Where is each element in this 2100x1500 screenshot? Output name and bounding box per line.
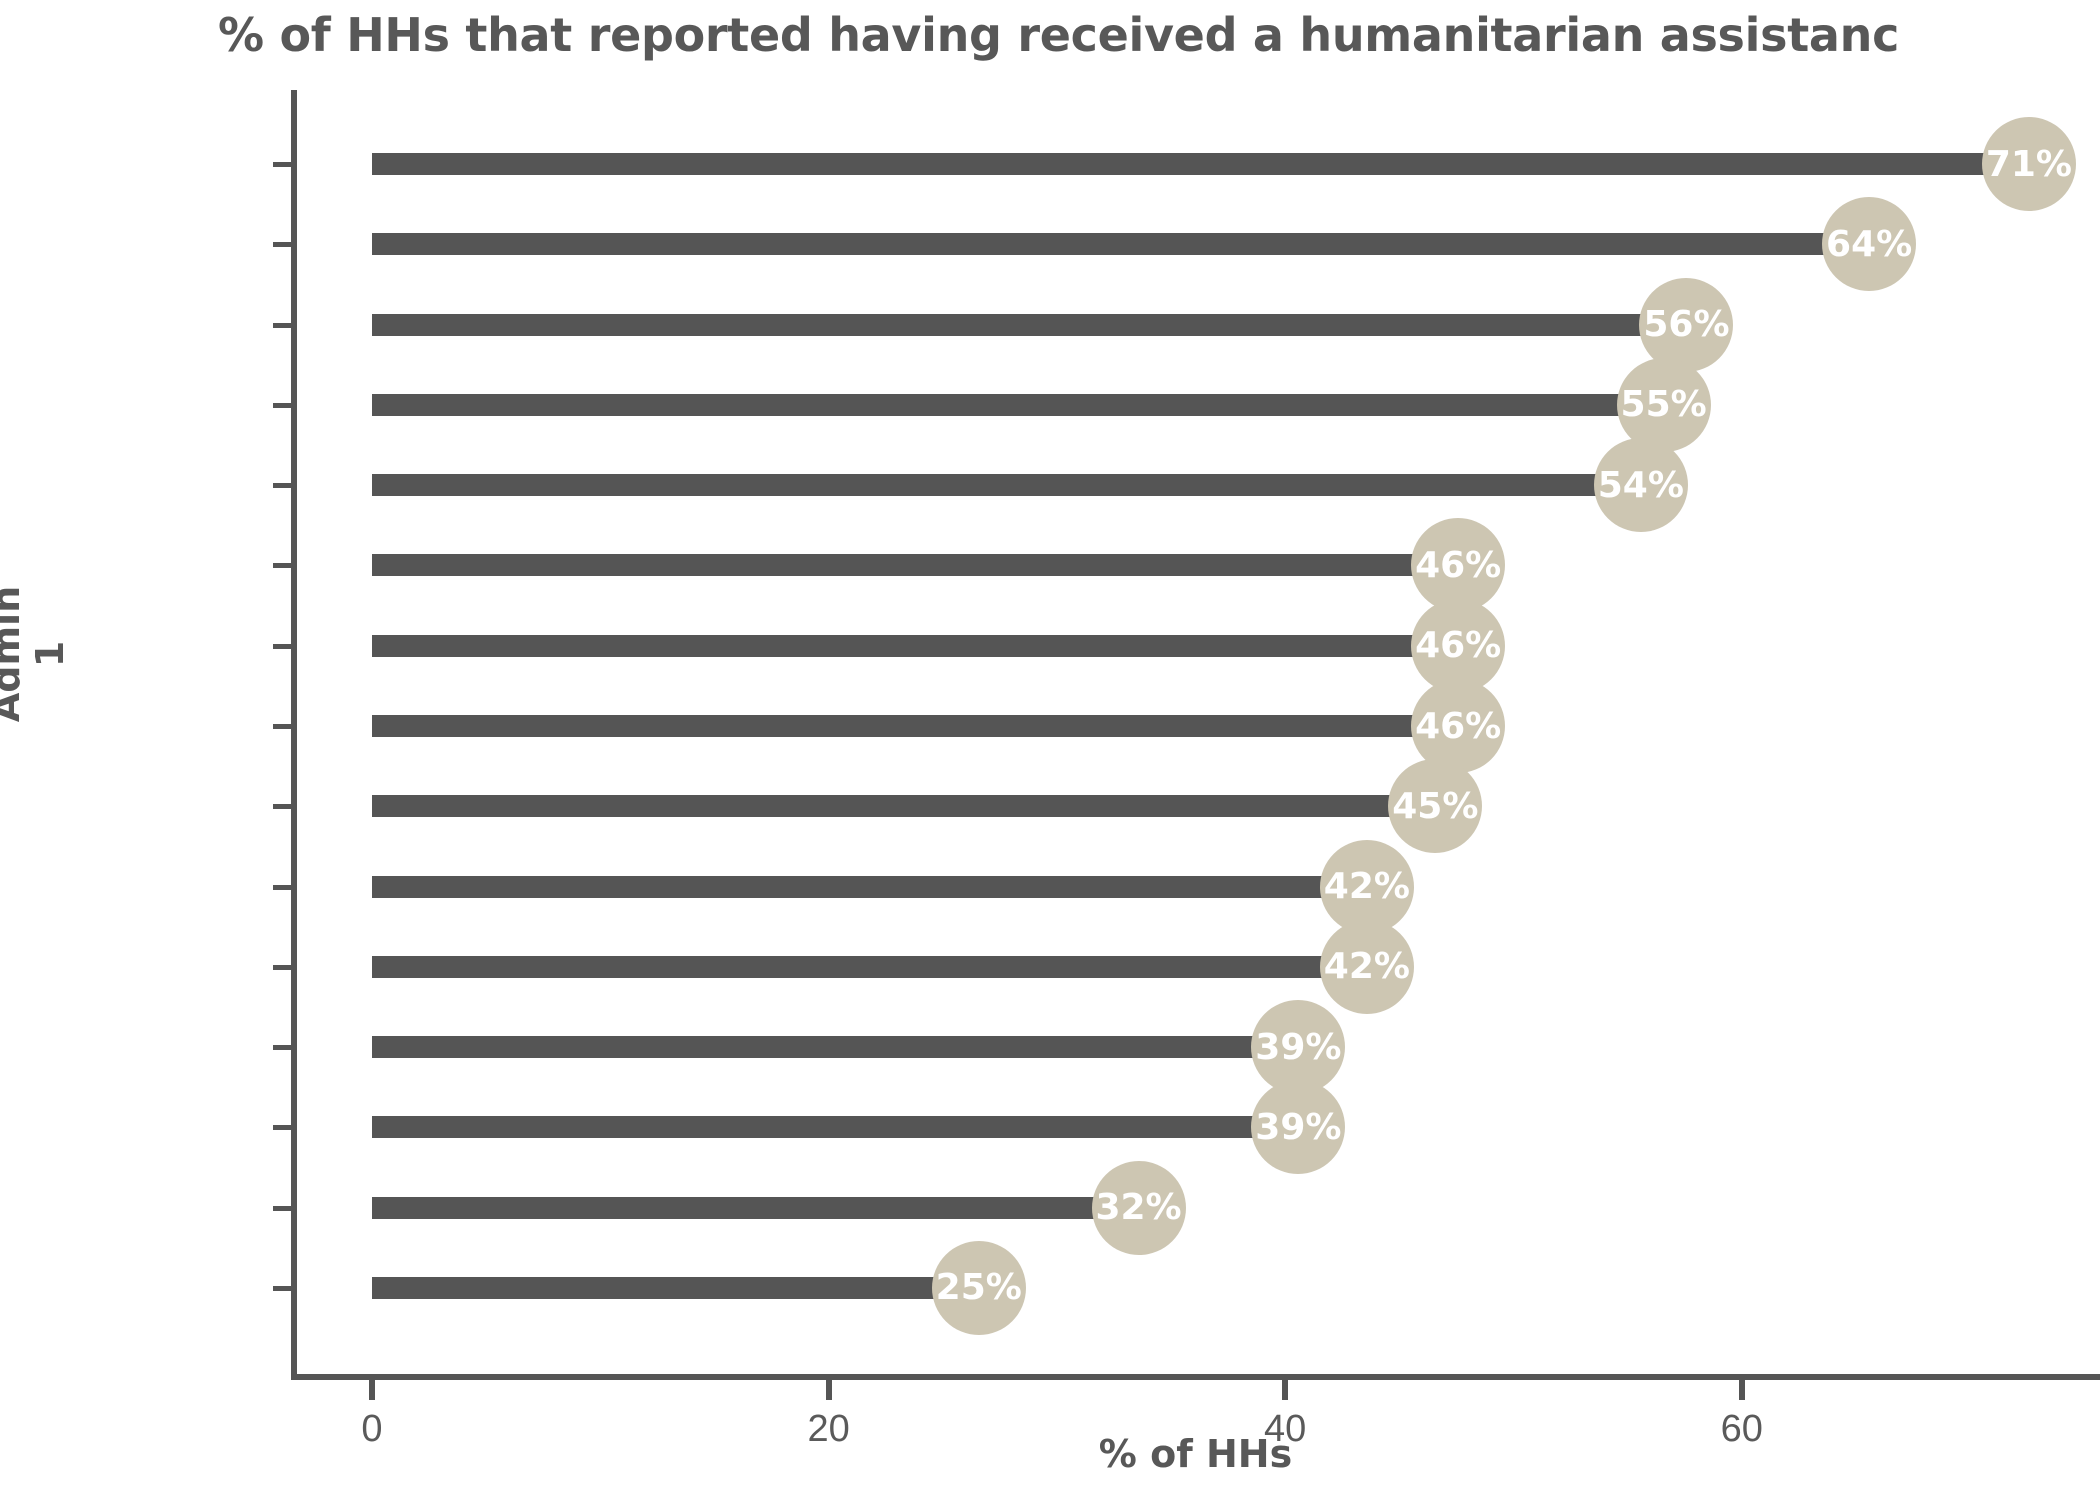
value-bubble: 54%	[1594, 438, 1688, 532]
value-bubble-label: 64%	[1826, 224, 1912, 265]
lollipop-bar	[372, 635, 1422, 657]
y-axis-title: Admin 1	[0, 574, 72, 734]
value-bubble-label: 55%	[1621, 384, 1707, 425]
value-bubble: 71%	[1982, 117, 2076, 211]
lollipop-bar	[372, 554, 1422, 576]
lollipop-bar	[372, 233, 1833, 255]
value-bubble: 45%	[1388, 759, 1482, 853]
lollipop-bar	[372, 314, 1650, 336]
value-bubble-label: 46%	[1415, 625, 1501, 666]
y-axis-tick	[273, 323, 291, 328]
value-bubble-label: 32%	[1095, 1187, 1181, 1228]
value-bubble: 56%	[1639, 278, 1733, 372]
y-axis-tick	[273, 563, 291, 568]
y-axis-tick	[273, 483, 291, 488]
y-axis-tick	[273, 804, 291, 809]
y-axis-tick	[273, 644, 291, 649]
value-bubble-label: 42%	[1324, 946, 1410, 987]
value-bubble-label: 54%	[1598, 465, 1684, 506]
value-bubble: 55%	[1617, 358, 1711, 452]
lollipop-bar	[372, 715, 1422, 737]
y-axis-tick	[273, 965, 291, 970]
lollipop-bar	[372, 1116, 1262, 1138]
x-axis-tick	[369, 1380, 375, 1400]
y-axis-tick	[273, 1045, 291, 1050]
value-bubble-label: 42%	[1324, 866, 1410, 907]
value-bubble: 32%	[1092, 1161, 1186, 1255]
value-bubble: 42%	[1320, 920, 1414, 1014]
plot-area: 71%64%56%55%54%46%46%46%45%42%42%39%39%3…	[291, 90, 2100, 1380]
value-bubble-label: 39%	[1255, 1027, 1341, 1068]
y-axis-tick	[273, 724, 291, 729]
lollipop-bar	[372, 474, 1605, 496]
y-axis-tick	[273, 242, 291, 247]
value-bubble-label: 46%	[1415, 545, 1501, 586]
value-bubble: 64%	[1822, 197, 1916, 291]
value-bubble: 25%	[932, 1241, 1026, 1335]
lollipop-bar	[372, 795, 1399, 817]
y-axis-tick	[273, 885, 291, 890]
value-bubble-label: 39%	[1255, 1107, 1341, 1148]
y-axis-spine	[291, 90, 297, 1380]
y-axis-tick	[273, 1125, 291, 1130]
chart-title: % of HHs that reported having received a…	[218, 8, 1899, 62]
lollipop-bar	[372, 153, 1993, 175]
x-axis-tick	[1282, 1380, 1288, 1400]
x-axis-tick	[1739, 1380, 1745, 1400]
y-axis-tick	[273, 1286, 291, 1291]
value-bubble-label: 45%	[1392, 786, 1478, 827]
lollipop-bar	[372, 394, 1628, 416]
value-bubble-label: 25%	[936, 1267, 1022, 1308]
x-axis-spine	[291, 1374, 2100, 1380]
lollipop-bar	[372, 1036, 1262, 1058]
chart-page: % of HHs that reported having received a…	[0, 0, 2100, 1500]
y-axis-tick	[273, 403, 291, 408]
value-bubble-label: 56%	[1643, 304, 1729, 345]
lollipop-bar	[372, 876, 1331, 898]
value-bubble: 46%	[1411, 679, 1505, 773]
value-bubble-label: 46%	[1415, 706, 1501, 747]
y-axis-tick	[273, 162, 291, 167]
x-axis-tick	[826, 1380, 832, 1400]
lollipop-bar	[372, 1197, 1103, 1219]
value-bubble-label: 71%	[1986, 144, 2072, 185]
y-axis-tick	[273, 1206, 291, 1211]
x-axis-title: % of HHs	[291, 1432, 2100, 1476]
value-bubble: 39%	[1251, 1080, 1345, 1174]
lollipop-bar	[372, 1277, 943, 1299]
lollipop-bar	[372, 956, 1331, 978]
